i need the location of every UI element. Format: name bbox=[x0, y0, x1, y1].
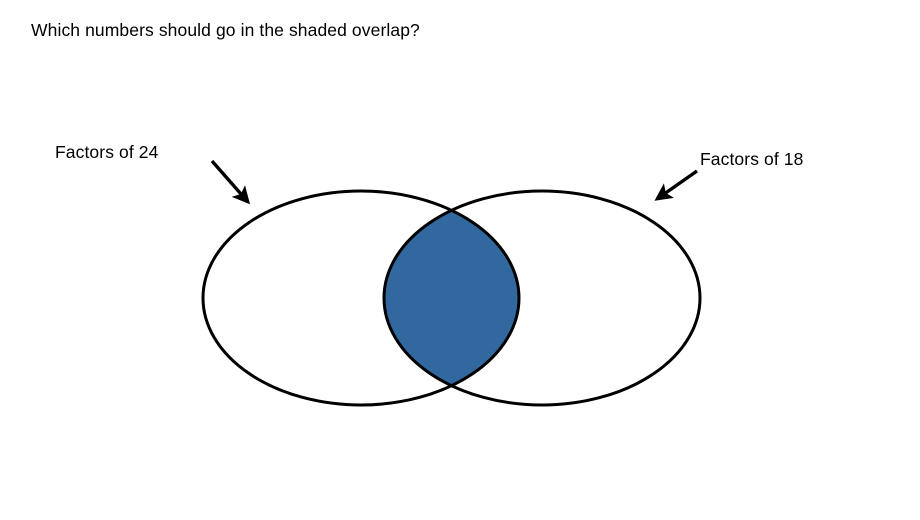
right-set-label: Factors of 18 bbox=[700, 148, 803, 170]
venn-diagram-canvas bbox=[0, 0, 920, 520]
arrow-to-left-ellipse bbox=[212, 161, 248, 202]
left-set-label: Factors of 24 bbox=[55, 141, 158, 163]
venn-diagram-worksheet: Which numbers should go in the shaded ov… bbox=[0, 0, 920, 520]
arrow-to-right-ellipse bbox=[657, 171, 697, 199]
